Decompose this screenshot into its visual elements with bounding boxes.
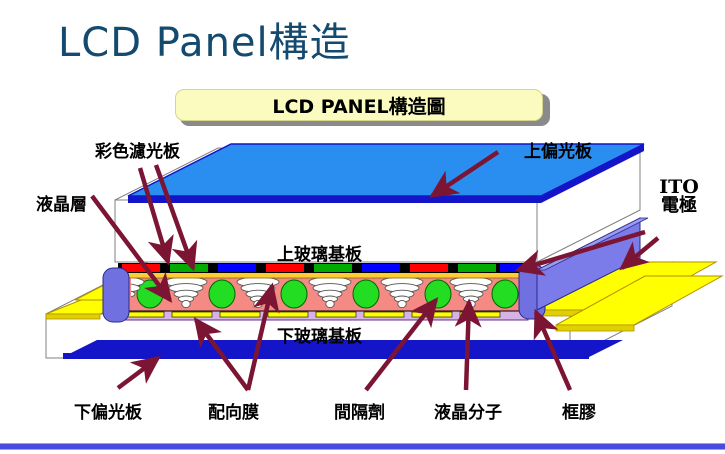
label-upper-polarizer: 上偏光板 [524, 137, 592, 162]
seal-left [103, 268, 129, 322]
label-lower-glass-substrate: 下玻璃基板 [277, 322, 362, 347]
lcd-panel-cross-section-diagram [0, 0, 725, 454]
arrow-lc-molecule [466, 302, 469, 390]
label-upper-glass-substrate: 上玻璃基板 [277, 240, 362, 265]
slide-canvas: LCD Panel構造 LCD PANEL構造圖 [0, 0, 725, 454]
label-spacer: 間隔劑 [334, 398, 385, 423]
label-color-filter: 彩色濾光板 [95, 137, 180, 162]
label-lower-polarizer: 下偏光板 [74, 398, 142, 423]
label-ito-electrode: ITO 電極 [640, 178, 718, 215]
label-ito-cjk: 電極 [640, 197, 718, 215]
label-lc-molecule: 液晶分子 [434, 398, 502, 423]
label-liquid-crystal-layer: 液晶層 [36, 190, 87, 215]
slide-bottom-rule [0, 443, 725, 450]
label-seal: 框膠 [562, 398, 596, 423]
arrow-lower-polarizer [118, 358, 158, 388]
label-alignment-film: 配向膜 [208, 398, 259, 423]
